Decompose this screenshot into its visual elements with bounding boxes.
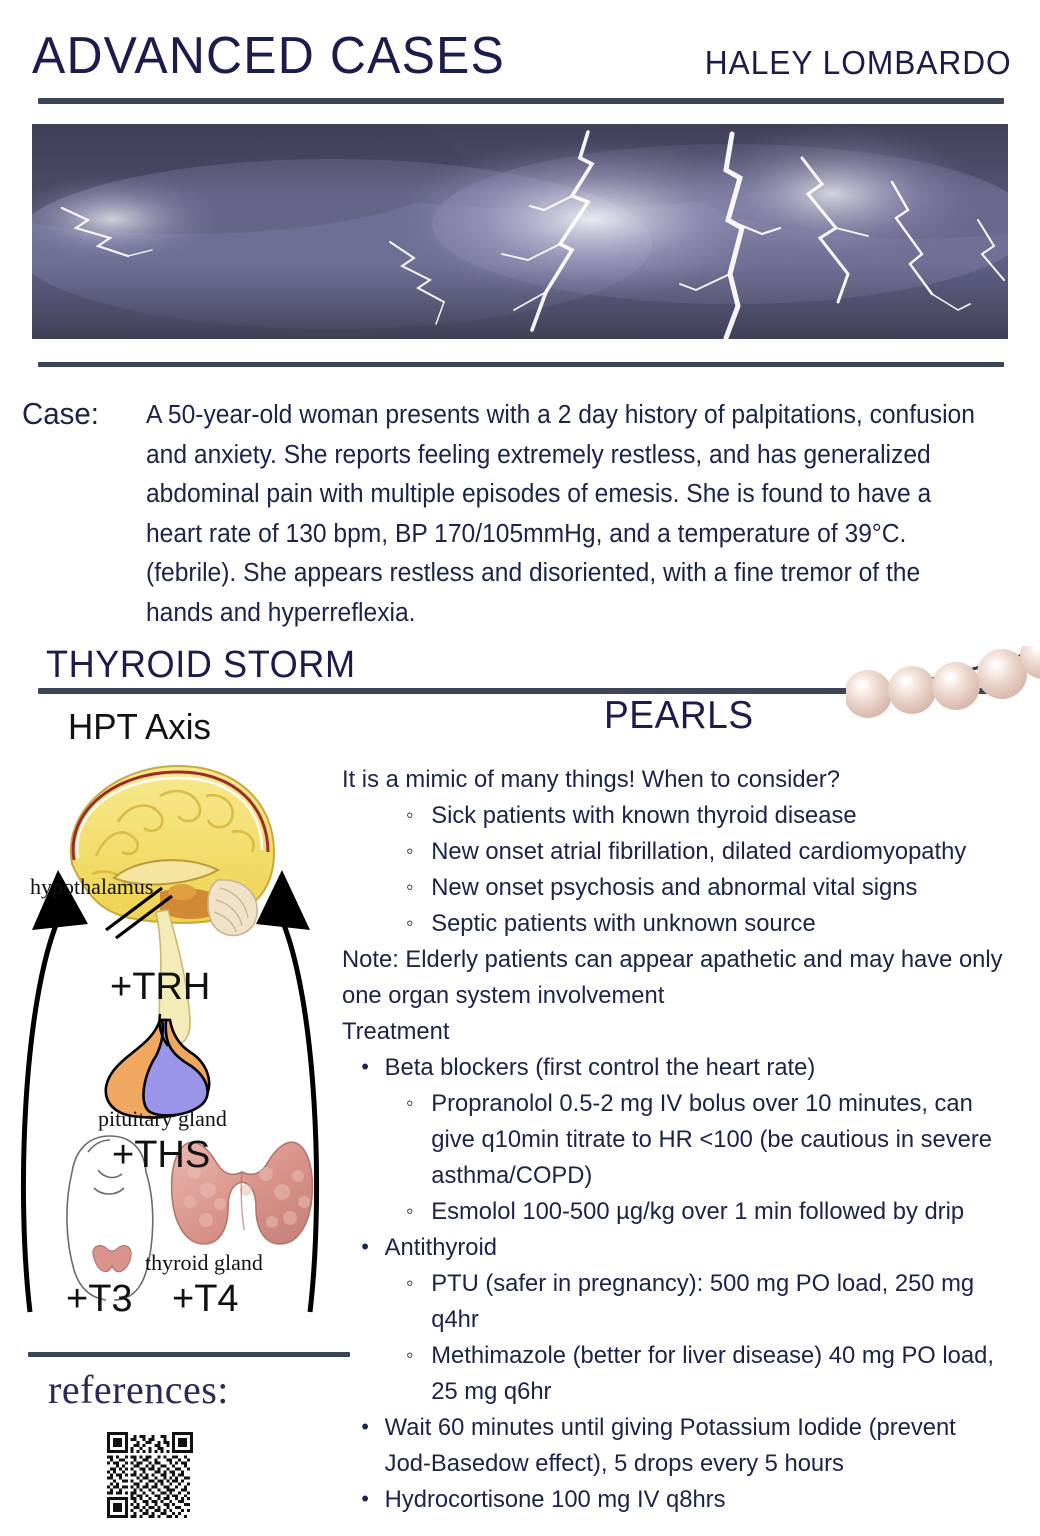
case-label: Case: — [22, 396, 99, 432]
consider-item: Sick patients with known thyroid disease — [342, 798, 1007, 834]
treatment-label: Treatment — [342, 1014, 1007, 1050]
label-t4: +T4 — [172, 1278, 239, 1321]
lightning-storm-banner-image — [32, 124, 1008, 339]
treatment-item: Antithyroid — [342, 1230, 1007, 1266]
treatment-item: Methimazole (better for liver disease) 4… — [342, 1338, 1007, 1410]
hpt-axis-heading: HPT Axis — [68, 706, 211, 748]
treatment-item: Hydrocortisone 100 mg IV q8hrs — [342, 1482, 1007, 1518]
label-hypothalamus: hypothalamus — [30, 874, 153, 900]
pearls-icon — [846, 646, 1040, 756]
consider-item: New onset psychosis and abnormal vital s… — [342, 870, 1007, 906]
references-heading: references: — [48, 1366, 229, 1413]
treatment-item: Propranolol 0.5-2 mg IV bolus over 10 mi… — [342, 1086, 1007, 1194]
divider-references — [28, 1352, 350, 1357]
consider-item: New onset atrial fibrillation, dilated c… — [342, 834, 1007, 870]
pearls-heading: PEARLS — [604, 694, 754, 738]
pearls-content: It is a mimic of many things! When to co… — [342, 762, 1007, 1518]
label-ths: +THS — [112, 1134, 210, 1177]
lightning-storm-icon — [32, 124, 1008, 339]
divider-top — [38, 98, 1004, 104]
treatment-item: PTU (safer in pregnancy): 500 mg PO load… — [342, 1266, 1007, 1338]
pituitary-illustration — [106, 1014, 209, 1118]
case-description: A 50-year-old woman presents with a 2 da… — [146, 396, 986, 633]
label-trh: +TRH — [110, 966, 210, 1009]
author-name: HALEY LOMBARDO — [705, 44, 1012, 82]
small-thyroid-icon — [93, 1246, 131, 1272]
pearls-note: Note: Elderly patients can appear apathe… — [342, 942, 1007, 1014]
deck-title: ADVANCED CASES — [32, 26, 505, 86]
divider-below-banner — [38, 362, 1004, 367]
consider-item: Septic patients with unknown source — [342, 906, 1007, 942]
pearl-strand-decoration — [846, 646, 1040, 756]
pearls-intro: It is a mimic of many things! When to co… — [342, 762, 1007, 798]
treatment-item: Wait 60 minutes until giving Potassium I… — [342, 1410, 1007, 1482]
treatment-item: Esmolol 100-500 µg/kg over 1 min followe… — [342, 1194, 1007, 1230]
label-t3: +T3 — [66, 1278, 133, 1321]
page-title: THYROID STORM — [46, 644, 356, 687]
label-pituitary-gland: pituitary gland — [98, 1106, 227, 1132]
treatment-item: Beta blockers (first control the heart r… — [342, 1050, 1007, 1086]
qr-code-icon[interactable] — [107, 1432, 193, 1518]
qr-code-svg — [107, 1432, 193, 1518]
page-header: ADVANCED CASES HALEY LOMBARDO — [0, 0, 1040, 100]
label-thyroid-gland: thyroid gland — [145, 1250, 263, 1276]
